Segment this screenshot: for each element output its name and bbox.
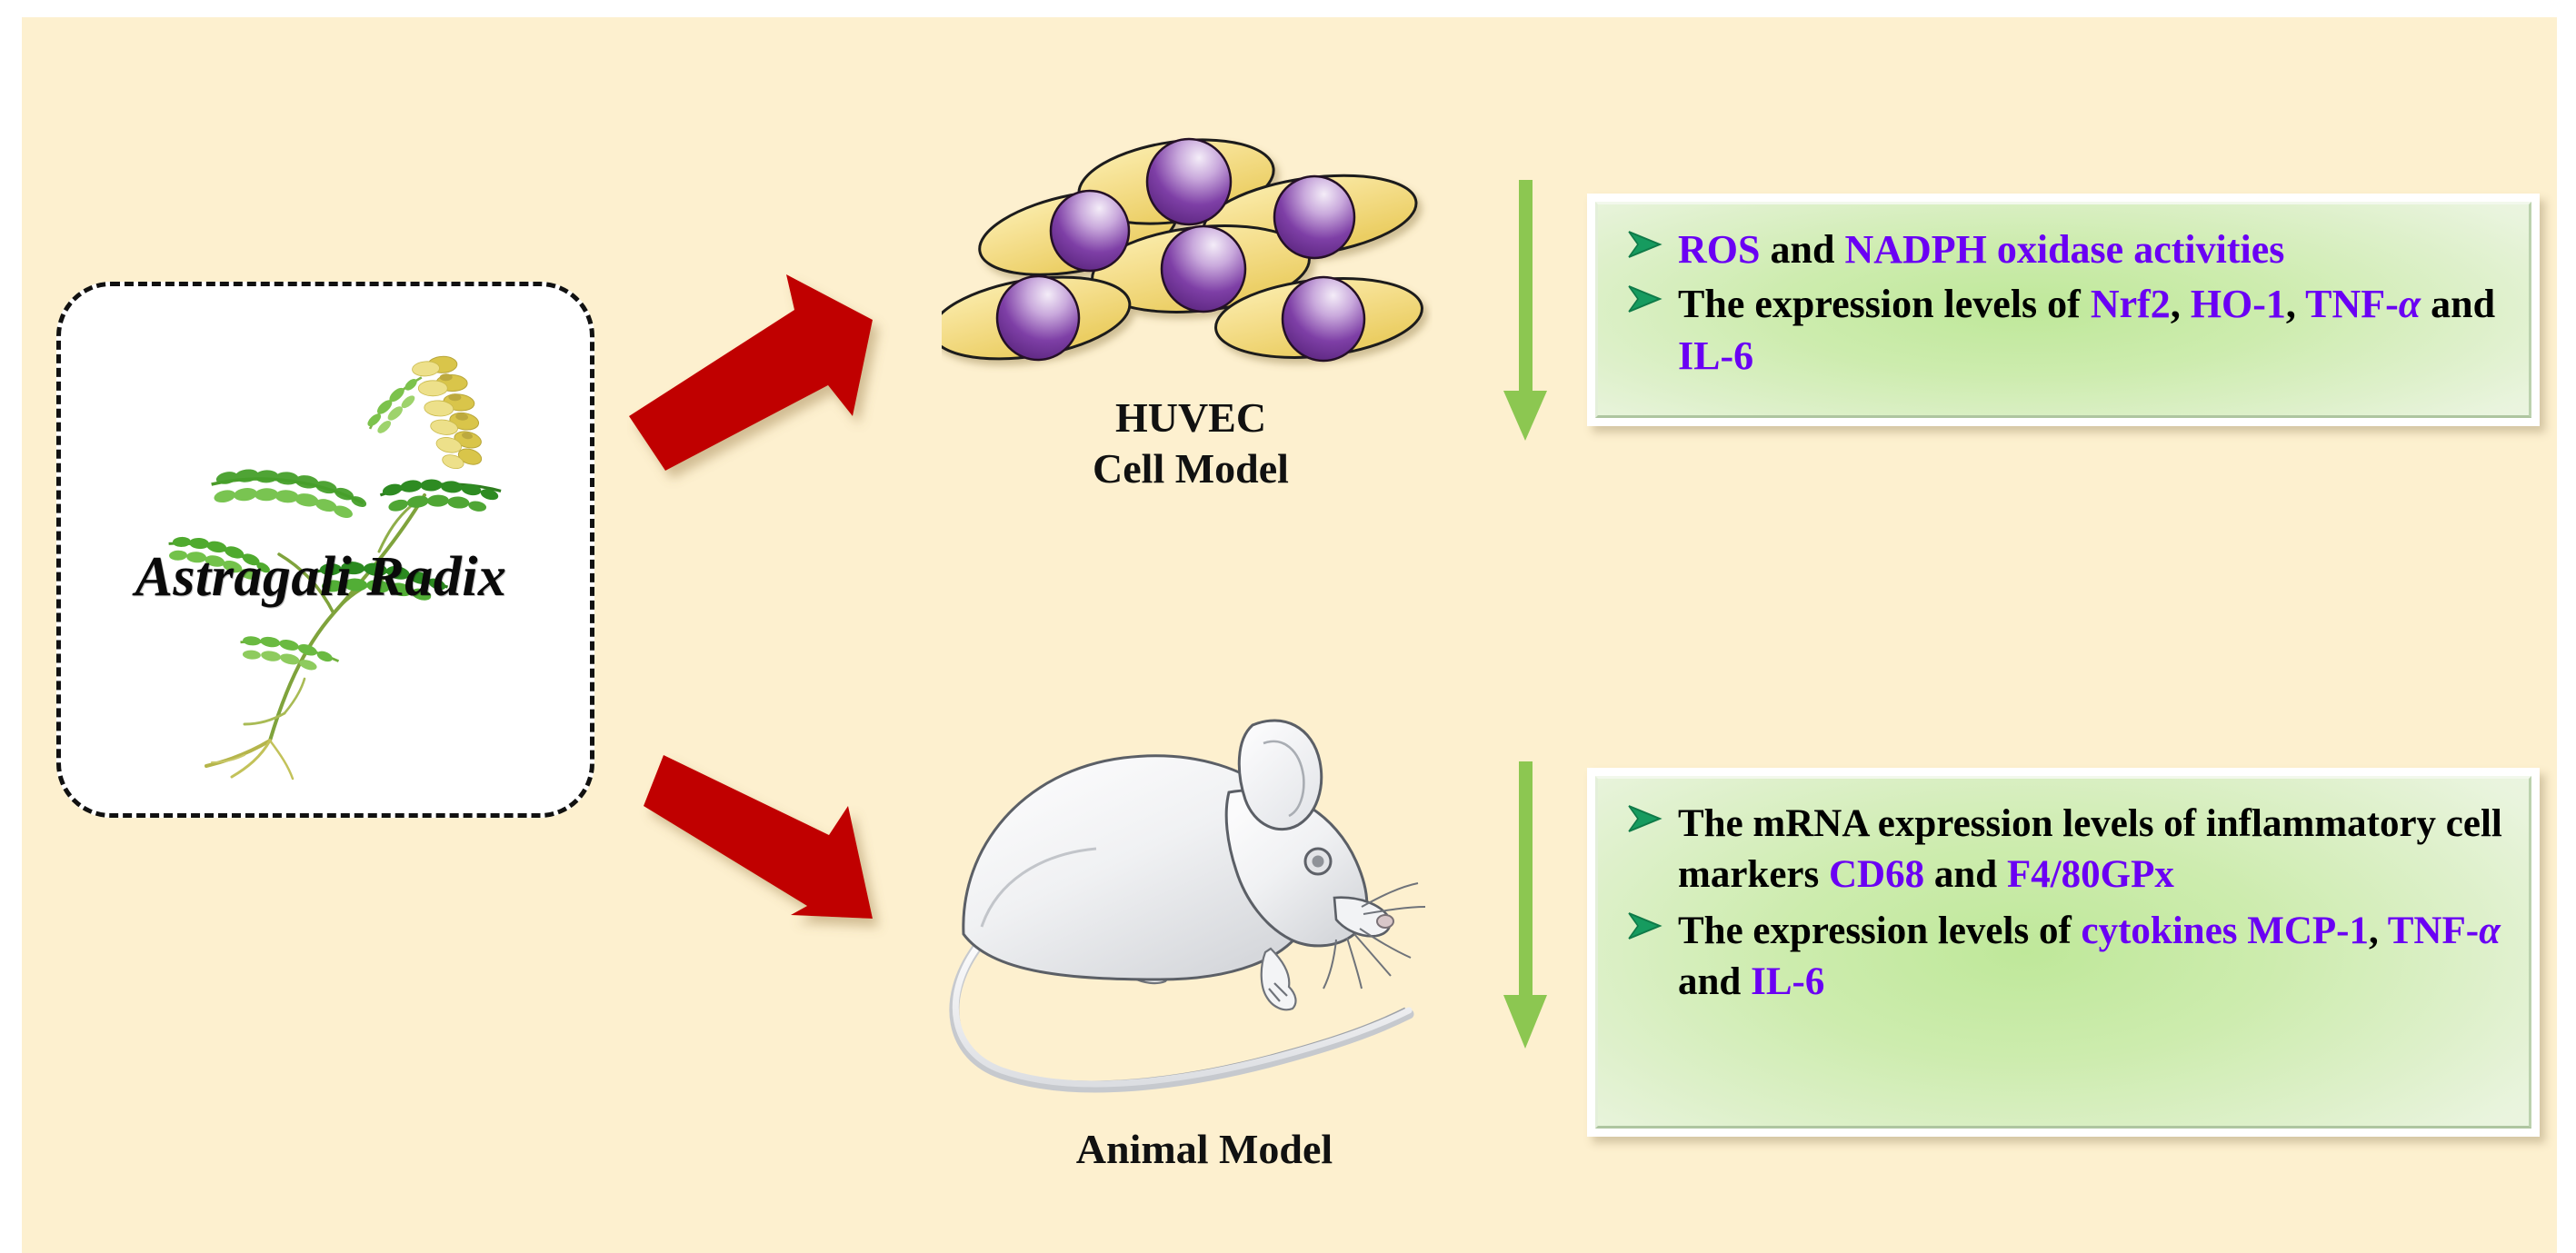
source-material-card [56, 282, 594, 818]
green-down-arrow-icon [1489, 761, 1562, 1052]
bullet-text: The expression levels of Nrf2, HO-1, TNF… [1678, 282, 2495, 377]
green-arrow-bullet-icon [1625, 908, 1665, 948]
red-arrow-down-right-icon [627, 741, 918, 1004]
bullet-text: The mRNA expression levels of inflammato… [1678, 802, 2502, 896]
huvec-label-line1: HUVEC [909, 393, 1473, 443]
red-arrow-up-right-icon [627, 264, 918, 527]
cell-results-inner: ROS and NADPH oxidase activities The exp… [1595, 202, 2531, 418]
animal-results-panel: The mRNA expression levels of inflammato… [1587, 768, 2540, 1137]
cell-results-panel: ROS and NADPH oxidase activities The exp… [1587, 194, 2540, 426]
white-mouse-icon [909, 683, 1500, 1110]
huvec-model-label: HUVEC Cell Model [909, 393, 1473, 494]
animal-results-list: The mRNA expression levels of inflammato… [1622, 799, 2505, 1008]
endothelial-cell-cluster-icon [942, 125, 1433, 389]
green-down-arrow-icon [1489, 180, 1562, 443]
huvec-label-line2: Cell Model [909, 443, 1473, 494]
list-item: The mRNA expression levels of inflammato… [1622, 799, 2505, 900]
green-arrow-bullet-icon [1625, 281, 1665, 321]
source-card-surface [61, 286, 590, 813]
list-item: The expression levels of Nrf2, HO-1, TNF… [1622, 279, 2505, 382]
list-item: ROS and NADPH oxidase activities [1622, 224, 2505, 275]
green-arrow-bullet-icon [1625, 226, 1665, 266]
animal-results-inner: The mRNA expression levels of inflammato… [1595, 776, 2531, 1129]
list-item: The expression levels of cytokines MCP-1… [1622, 906, 2505, 1008]
green-arrow-bullet-icon [1625, 801, 1665, 840]
bullet-text: ROS and NADPH oxidase activities [1678, 227, 2284, 272]
graphical-abstract-canvas: Astragali Radix [0, 0, 2576, 1253]
bullet-text: The expression levels of cytokines MCP-1… [1678, 910, 2501, 1003]
animal-model-label: Animal Model [909, 1125, 1500, 1173]
cell-results-list: ROS and NADPH oxidase activities The exp… [1622, 224, 2505, 382]
